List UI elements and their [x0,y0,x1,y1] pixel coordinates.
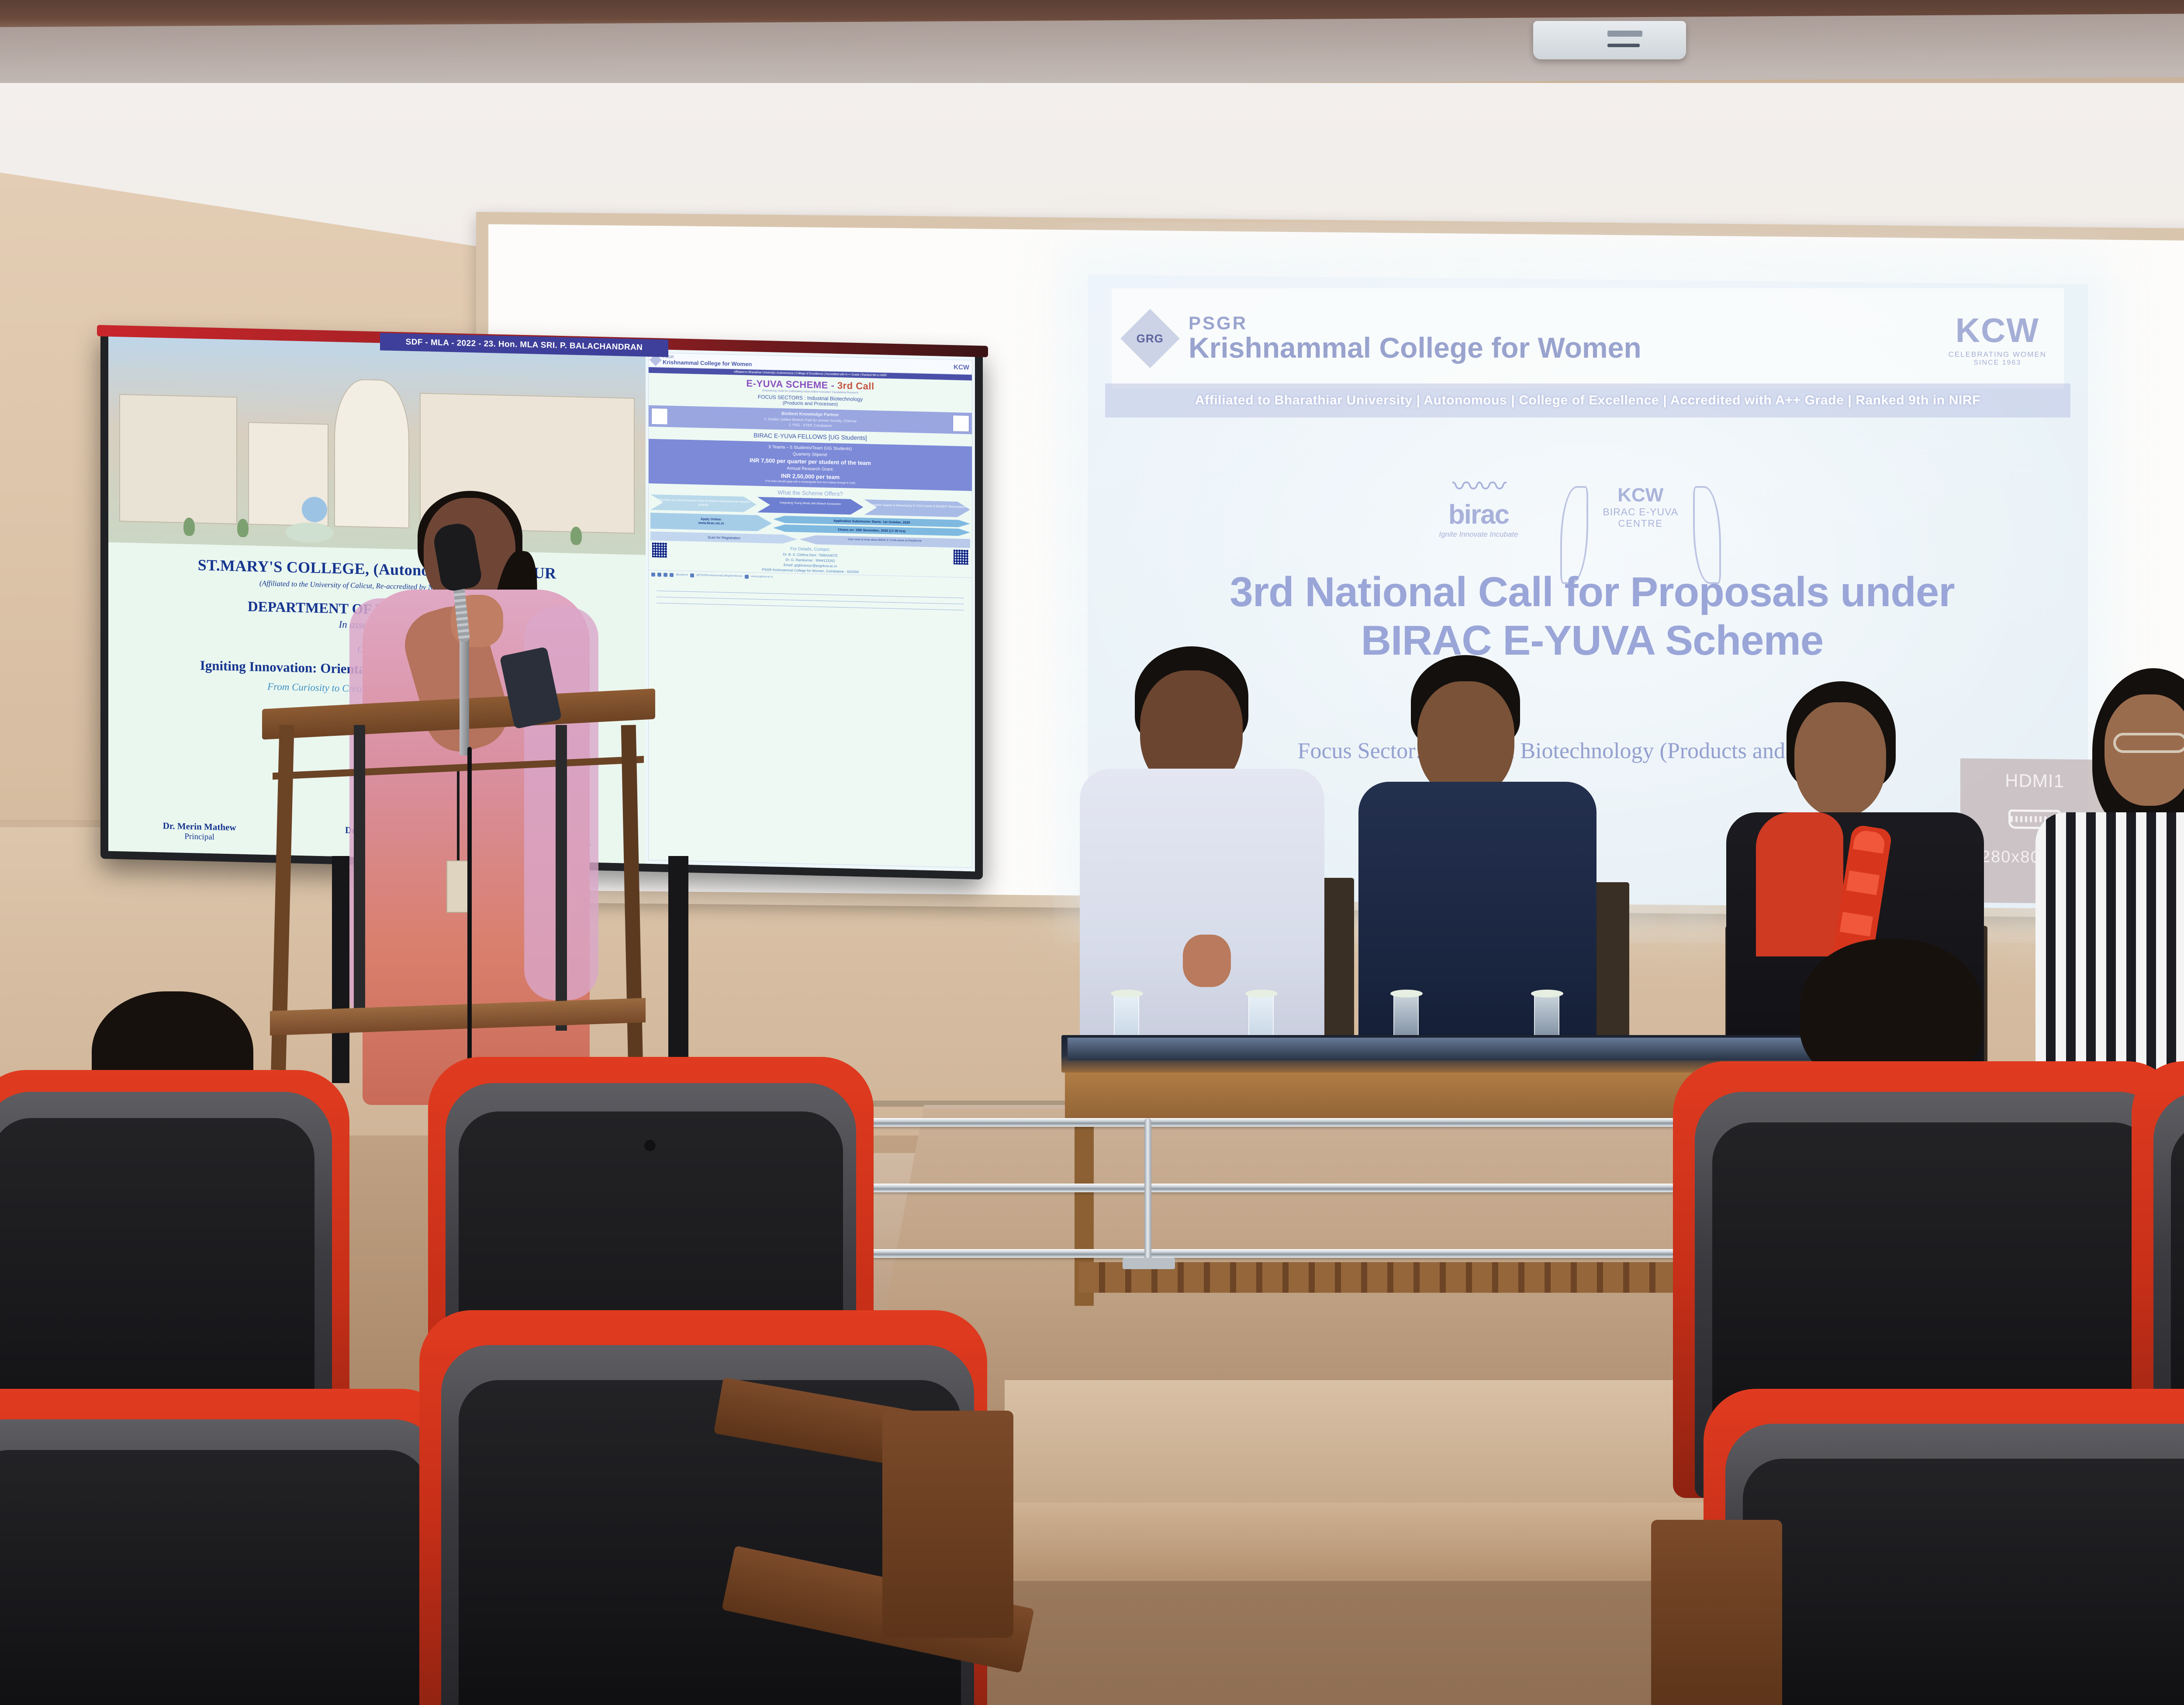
poster-social-web: www.psgrkcw.ac.in [751,575,773,578]
eyeglasses-icon [2113,733,2184,753]
campus-globe-icon [302,497,327,522]
panelist-3-head [1794,702,1886,817]
slide-college-line1: PSGR [1189,314,1949,333]
railing-base-plate [1123,1258,1175,1269]
qr-code-centre-icon[interactable] [954,549,968,565]
tv-credit-left: Dr. Merin Mathew Principal [163,821,236,843]
wreath-kcw-label: KCW [1571,484,1711,506]
globe-icon[interactable] [745,575,749,579]
birac-logo-label: birac [1439,499,1518,530]
kcw-logo-label: KCW [1949,311,2046,350]
seat-armrest [882,1411,1013,1638]
slide-accreditation-ribbon: Affiliated to Bharathiar University | Au… [1105,383,2070,418]
seat-cushion[interactable] [0,1450,428,1705]
panelist-3-blouse [1756,812,1843,956]
poster-title-main: E-YUVA SCHEME - [746,378,837,391]
panelist-2-head [1417,681,1514,798]
dna-helix-icon: 〰〰 [1439,474,1518,500]
podium [262,699,655,1092]
instagram-icon[interactable] [657,573,661,576]
table-glass-surface [1068,1038,1811,1060]
tv-credit-left-role: Principal [184,832,214,842]
auditorium-photo: GRG PSGR Krishnammal College for Women K… [0,0,2184,1705]
water-glass[interactable] [1534,993,1559,1039]
microphone-cable [467,747,472,1096]
facebook-icon[interactable] [651,573,655,576]
seat-armrest [1651,1520,1782,1705]
campus-tree [183,517,195,536]
podium-leg [556,725,567,1031]
eyuva-poster: PSGR Krishnammal College for Women KCW A… [648,352,972,868]
campus-building [119,394,238,525]
poster-kcw-icon: KCW [954,363,969,371]
psg-step-logo-icon [953,415,969,432]
kcw-logo-icon: KCW CELEBRATING WOMEN SINCE 1963 [1949,311,2046,367]
slide-logo-row: 〰〰 birac Ignite Innovate Incubate KCW BI… [1302,441,1848,572]
podium-leg [354,725,365,1031]
podium-brace [273,756,644,780]
linkedin-icon[interactable] [663,573,667,576]
slide-header: GRG PSGR Krishnammal College for Women K… [1112,288,2064,389]
ceiling-projector-icon [1533,21,1686,59]
poster-social-handle: @psgrkcw [676,573,688,576]
panelist-1-hands [1183,935,1231,987]
poster-offer-3: Incubation Support & Mentoring by E-YUVA… [864,499,970,517]
poster-grant-block: 5 Teams – 5 Students/Team (UG Students) … [649,439,972,491]
microphone-stand [460,633,469,756]
grg-logo-icon: GRG [1120,309,1180,368]
seat-button-icon [644,1140,656,1151]
grg-logo-label: GRG [1137,331,1164,345]
kcw-logo-sub1: CELEBRATING WOMEN [1949,350,2046,359]
bionest-logo-icon [651,408,668,425]
seat-cushion[interactable] [1743,1459,2184,1705]
tv-credit-left-name: Dr. Merin Mathew [163,821,236,833]
eyuva-centre-wreath-icon: KCW BIRAC E-YUVA CENTRE [1571,484,1711,529]
slide-college-name: PSGR Krishnammal College for Women [1189,314,1949,363]
water-glass[interactable] [1248,993,1274,1039]
projector-lens-icon [1607,44,1640,47]
slide-accreditation-text: Affiliated to Bharathiar University | Au… [1195,393,1980,408]
kcw-logo-sub2: SINCE 1963 [1949,359,2046,367]
poster-apply-block: Apply Online: www.birac.nic.in [650,512,772,532]
poster-title-accent: 3rd Call [837,380,874,392]
podium-shelf [270,998,646,1035]
x-twitter-icon[interactable] [670,573,674,577]
poster-offer-2: Integrating Young Minds with Biotech Eco… [757,497,864,515]
birac-logo-icon: 〰〰 birac Ignite Innovate Incubate [1439,474,1518,539]
campus-tree [237,518,249,537]
slide-title-line1: 3rd National Call for Proposals under [1105,568,2079,616]
youtube-icon[interactable] [690,573,694,577]
tv-slide-right: PSGR Krishnammal College for Women KCW A… [646,349,975,872]
water-glass[interactable] [1114,993,1139,1039]
projector-vent-icon [1607,31,1642,37]
birac-tagline: Ignite Innovate Incubate [1439,530,1518,539]
water-glass[interactable] [1393,993,1419,1039]
slide-college-line2: Krishnammal College for Women [1189,333,1949,363]
poster-offer-1: Fellowship and Seed Research Grant for b… [650,494,757,512]
wreath-line2: CENTRE [1571,518,1711,529]
poster-social-youtube: @PSGRKrishnammalCollegeforWomen [696,574,743,577]
qr-code-registration-icon[interactable] [652,542,667,558]
wreath-line1: BIRAC E-YUVA [1571,506,1711,518]
railing-post [1144,1118,1151,1262]
